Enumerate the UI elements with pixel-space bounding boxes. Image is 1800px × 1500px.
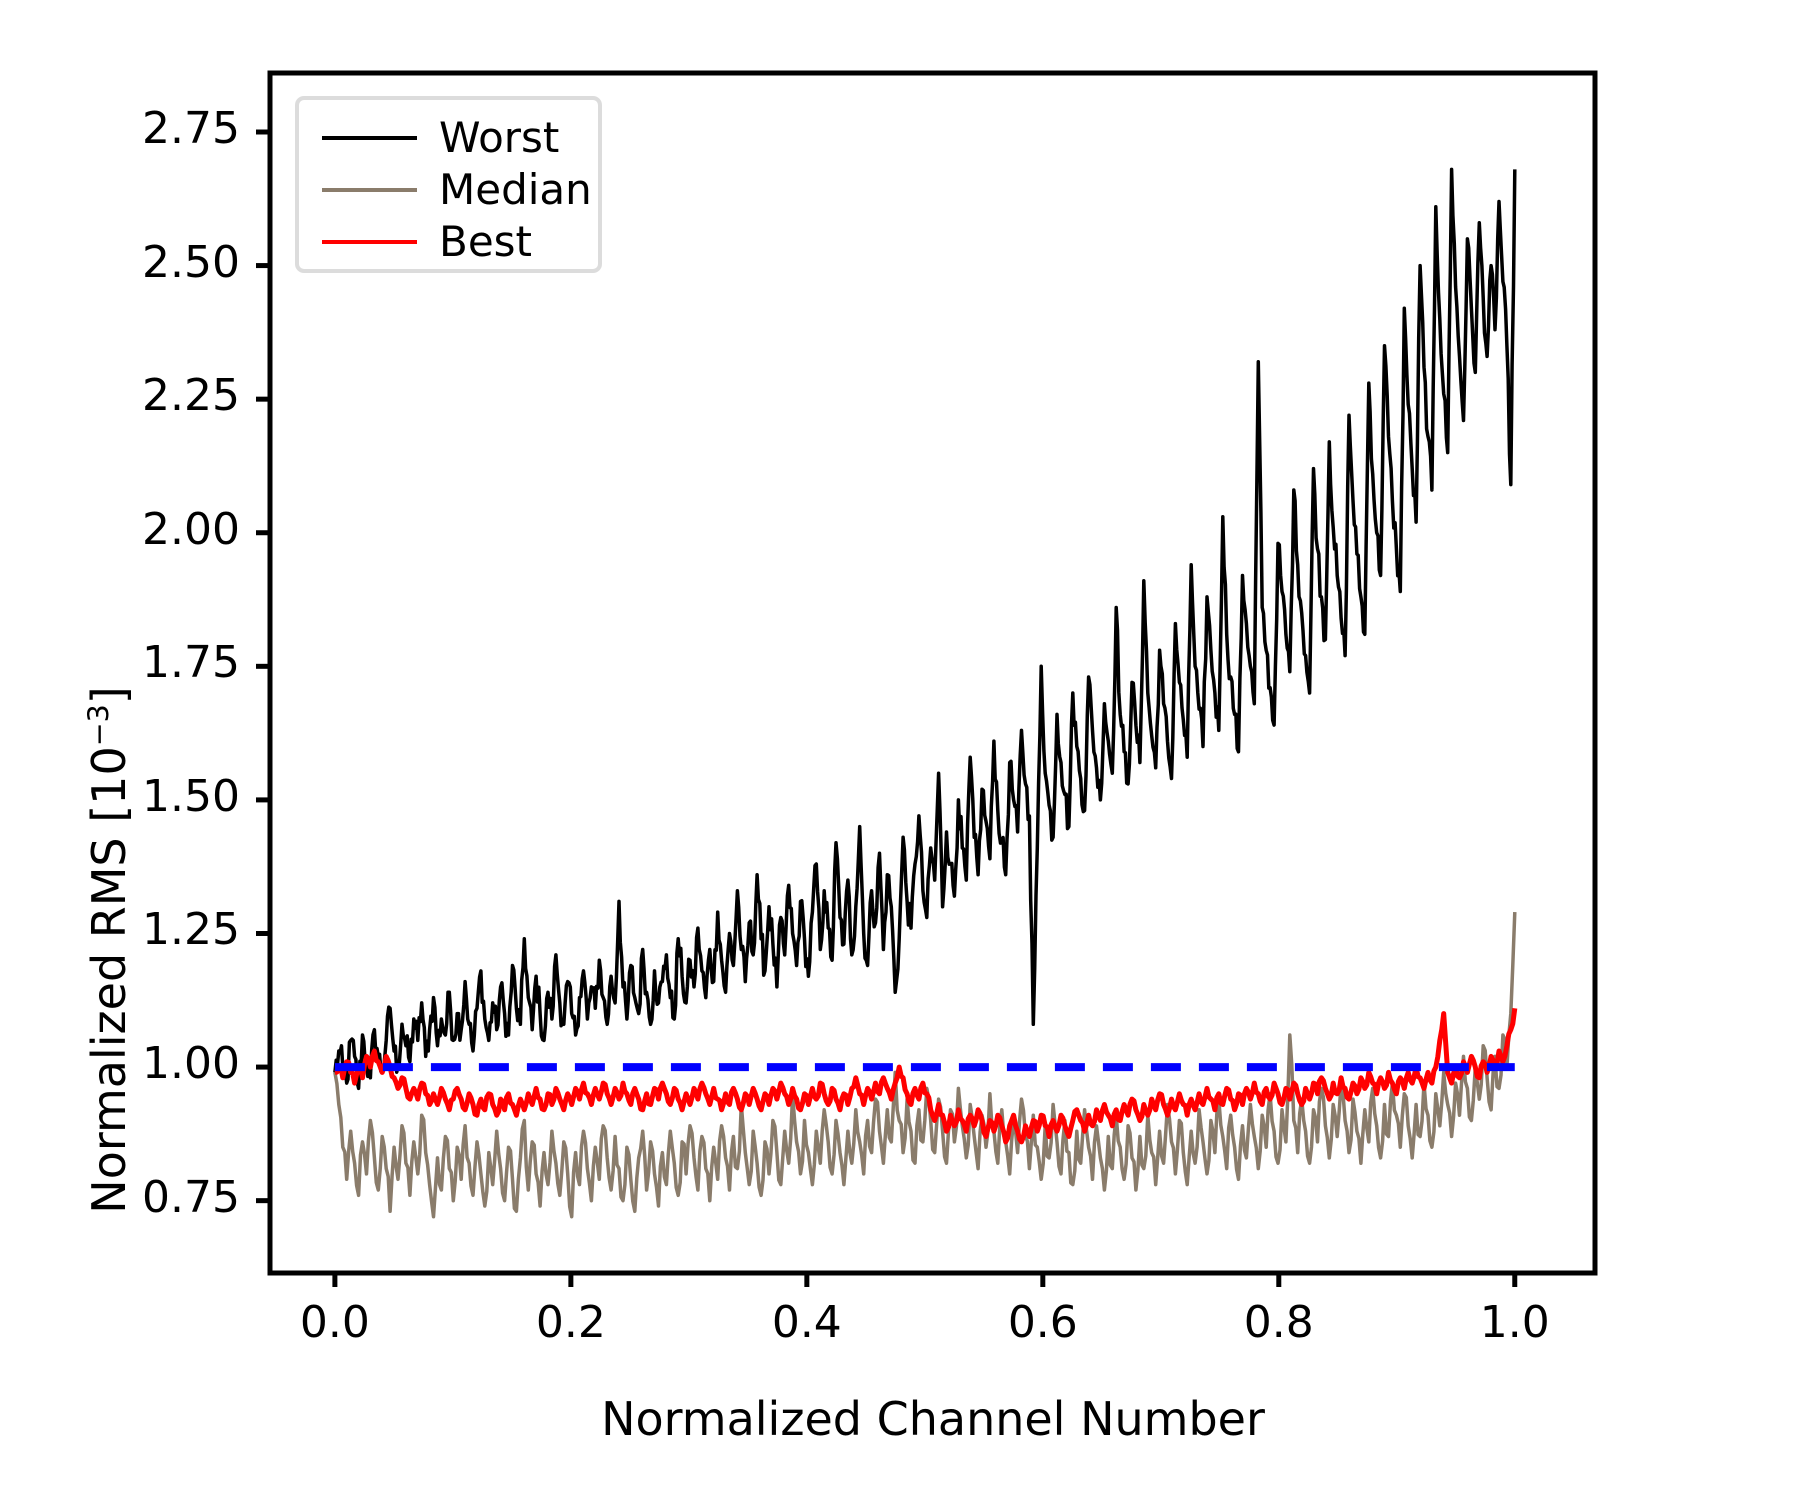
y-tick-label: 2.00 bbox=[60, 504, 240, 555]
legend-swatch-best bbox=[322, 240, 417, 244]
y-tick-label: 2.25 bbox=[60, 370, 240, 421]
x-tick-label: 0.4 bbox=[707, 1297, 907, 1348]
y-tick-label: 1.50 bbox=[60, 771, 240, 822]
plot-canvas bbox=[0, 0, 1800, 1500]
legend-entry-worst[interactable]: Worst bbox=[299, 110, 598, 166]
series-line-worst bbox=[335, 169, 1515, 1088]
x-tick-label: 0.2 bbox=[471, 1297, 671, 1348]
legend-swatch-median bbox=[322, 188, 417, 192]
x-tick-label: 1.0 bbox=[1415, 1297, 1615, 1348]
legend-swatch-worst bbox=[322, 136, 417, 140]
x-axis-label: Normalized Channel Number bbox=[270, 1392, 1596, 1446]
y-tick-label: 1.25 bbox=[60, 904, 240, 955]
y-axis-label-exponent: −3 bbox=[83, 704, 116, 746]
legend-label-median: Median bbox=[439, 164, 592, 216]
x-tick-label: 0.0 bbox=[235, 1297, 435, 1348]
y-tick-label: 1.75 bbox=[60, 637, 240, 688]
chart-figure: Normalized RMS [10−3] Normalized Channel… bbox=[0, 0, 1800, 1500]
legend-label-worst: Worst bbox=[439, 112, 559, 164]
legend-label-best: Best bbox=[439, 216, 532, 268]
chart-legend: Worst Median Best bbox=[295, 96, 602, 273]
y-tick-label: 2.50 bbox=[60, 237, 240, 288]
x-tick-label: 0.8 bbox=[1179, 1297, 1379, 1348]
y-tick-label: 0.75 bbox=[60, 1172, 240, 1223]
y-tick-label: 1.00 bbox=[60, 1038, 240, 1089]
legend-entry-median[interactable]: Median bbox=[299, 162, 598, 218]
legend-entry-best[interactable]: Best bbox=[299, 214, 598, 270]
y-tick-label: 2.75 bbox=[60, 103, 240, 154]
x-tick-label: 0.6 bbox=[943, 1297, 1143, 1348]
y-axis-label-tail: ] bbox=[82, 686, 136, 704]
